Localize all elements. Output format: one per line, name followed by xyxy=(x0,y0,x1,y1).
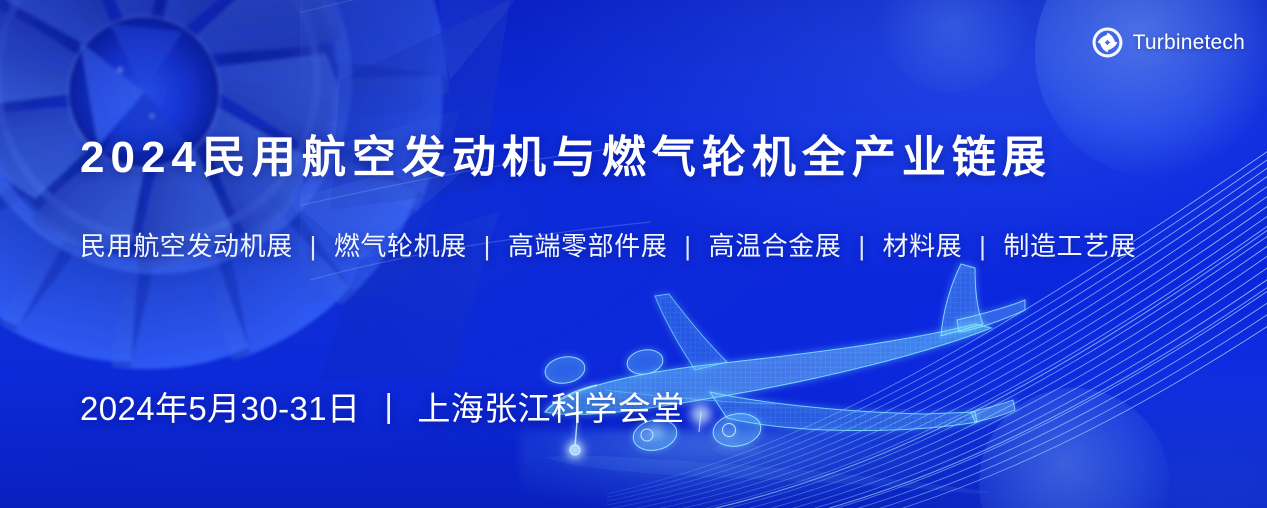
event-banner: Turbinetech 2024民用航空发动机与燃气轮机全产业链展 民用航空发动… xyxy=(0,0,1267,508)
category-separator: | xyxy=(475,231,500,261)
event-meta: 2024年5月30-31日 | 上海张江科学会堂 xyxy=(80,382,685,430)
category-item: 制造工艺展 xyxy=(1003,231,1136,261)
brand-logo[interactable]: Turbinetech xyxy=(1091,26,1245,59)
category-separator: | xyxy=(849,231,874,261)
meta-separator: | xyxy=(360,387,417,425)
category-separator: | xyxy=(301,231,326,261)
category-item: 高端零部件展 xyxy=(508,231,668,261)
category-item: 燃气轮机展 xyxy=(334,231,467,261)
exhibition-categories: 民用航空发动机展 | 燃气轮机展 | 高端零部件展 | 高温合金展 | 材料展 … xyxy=(80,226,1136,263)
brand-name: Turbinetech xyxy=(1133,31,1245,55)
event-date: 2024年5月30-31日 xyxy=(80,382,360,430)
event-venue: 上海张江科学会堂 xyxy=(417,382,684,430)
hero-content: 2024民用航空发动机与燃气轮机全产业链展 民用航空发动机展 | 燃气轮机展 |… xyxy=(0,0,1267,508)
turbine-swirl-icon xyxy=(1091,26,1124,59)
category-separator: | xyxy=(970,231,995,261)
category-item: 民用航空发动机展 xyxy=(80,231,293,261)
category-item: 材料展 xyxy=(883,231,963,261)
category-separator: | xyxy=(675,231,700,261)
page-title: 2024民用航空发动机与燃气轮机全产业链展 xyxy=(80,121,1052,185)
category-item: 高温合金展 xyxy=(708,231,841,261)
